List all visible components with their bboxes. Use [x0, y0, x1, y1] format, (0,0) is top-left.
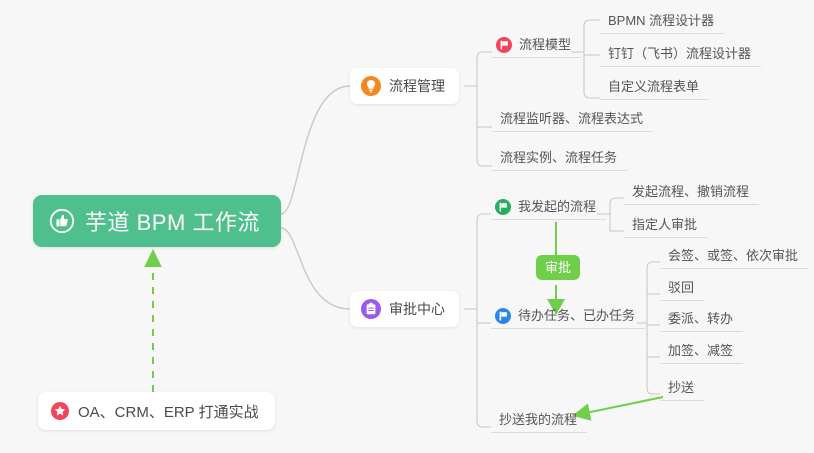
relation-cc-arrow — [576, 397, 663, 415]
edge-model-child-1 — [584, 20, 600, 26]
floating-node-label: OA、CRM、ERP 打通实战 — [78, 401, 259, 422]
flag-icon — [495, 199, 511, 215]
leaf-reject[interactable]: 驳回 — [660, 279, 704, 301]
mindmap-canvas: 芋道 BPM 工作流 流程管理 流程模型 BPMN 流程设计器 钉钉（飞书）流程… — [0, 0, 814, 453]
leaf-assignee-approval[interactable]: 指定人审批 — [624, 216, 707, 238]
branch-node-approval-center[interactable]: 审批中心 — [350, 291, 459, 327]
edge-ac-child-initiated — [477, 214, 491, 220]
node-my-initiated[interactable]: 我发起的流程 — [491, 198, 606, 220]
root-label: 芋道 BPM 工作流 — [85, 205, 260, 237]
lightbulb-icon — [361, 76, 381, 96]
leaf-custom-form[interactable]: 自定义流程表单 — [600, 78, 709, 100]
node-process-model[interactable]: 流程模型 — [492, 36, 581, 58]
leaf-countersign[interactable]: 会签、或签、依次审批 — [660, 247, 808, 269]
node-label-todo-done-tasks: 待办任务、已办任务 — [518, 307, 635, 324]
branch-label-process-management: 流程管理 — [389, 76, 445, 96]
edge-ac-child-cc — [477, 421, 491, 427]
edge-todo-child-5 — [647, 388, 660, 394]
edge-model-child-3 — [584, 92, 600, 98]
edge-badge-approval[interactable]: 审批 — [536, 255, 580, 280]
edge-todo-child-1 — [647, 262, 660, 268]
leaf-process-listener[interactable]: 流程监听器、流程表达式 — [492, 110, 653, 132]
leaf-delegate-transfer[interactable]: 委派、转办 — [660, 310, 743, 332]
leaf-cc[interactable]: 抄送 — [660, 379, 704, 401]
edge-root-to-approval-center — [281, 228, 350, 309]
edge-root-to-process-management — [281, 86, 350, 214]
node-label-my-initiated: 我发起的流程 — [518, 198, 596, 215]
flag-icon — [495, 308, 511, 324]
leaf-bpmn-designer[interactable]: BPMN 流程设计器 — [600, 12, 724, 34]
node-todo-done-tasks[interactable]: 待办任务、已办任务 — [491, 307, 645, 329]
edge-initiated-child-1 — [610, 198, 624, 204]
leaf-cc-to-me[interactable]: 抄送我的流程 — [491, 411, 587, 433]
leaf-add-remove-sign[interactable]: 加签、减签 — [660, 342, 743, 364]
edge-pm-branch-instance — [477, 160, 492, 166]
floating-node-integration[interactable]: OA、CRM、ERP 打通实战 — [38, 392, 275, 430]
star-icon — [51, 402, 69, 420]
leaf-dingtalk-designer[interactable]: 钉钉（飞书）流程设计器 — [600, 45, 761, 67]
root-node[interactable]: 芋道 BPM 工作流 — [33, 195, 281, 247]
node-label-process-model: 流程模型 — [519, 36, 571, 53]
thumbs-up-icon — [49, 208, 75, 234]
edge-pm-branch-model — [477, 52, 492, 58]
flag-icon — [496, 37, 512, 53]
leaf-process-instance[interactable]: 流程实例、流程任务 — [492, 149, 627, 171]
branch-label-approval-center: 审批中心 — [389, 299, 445, 319]
leaf-start-cancel-process[interactable]: 发起流程、撤销流程 — [624, 183, 759, 205]
branch-node-process-management[interactable]: 流程管理 — [350, 68, 459, 104]
clipboard-icon — [361, 299, 381, 319]
